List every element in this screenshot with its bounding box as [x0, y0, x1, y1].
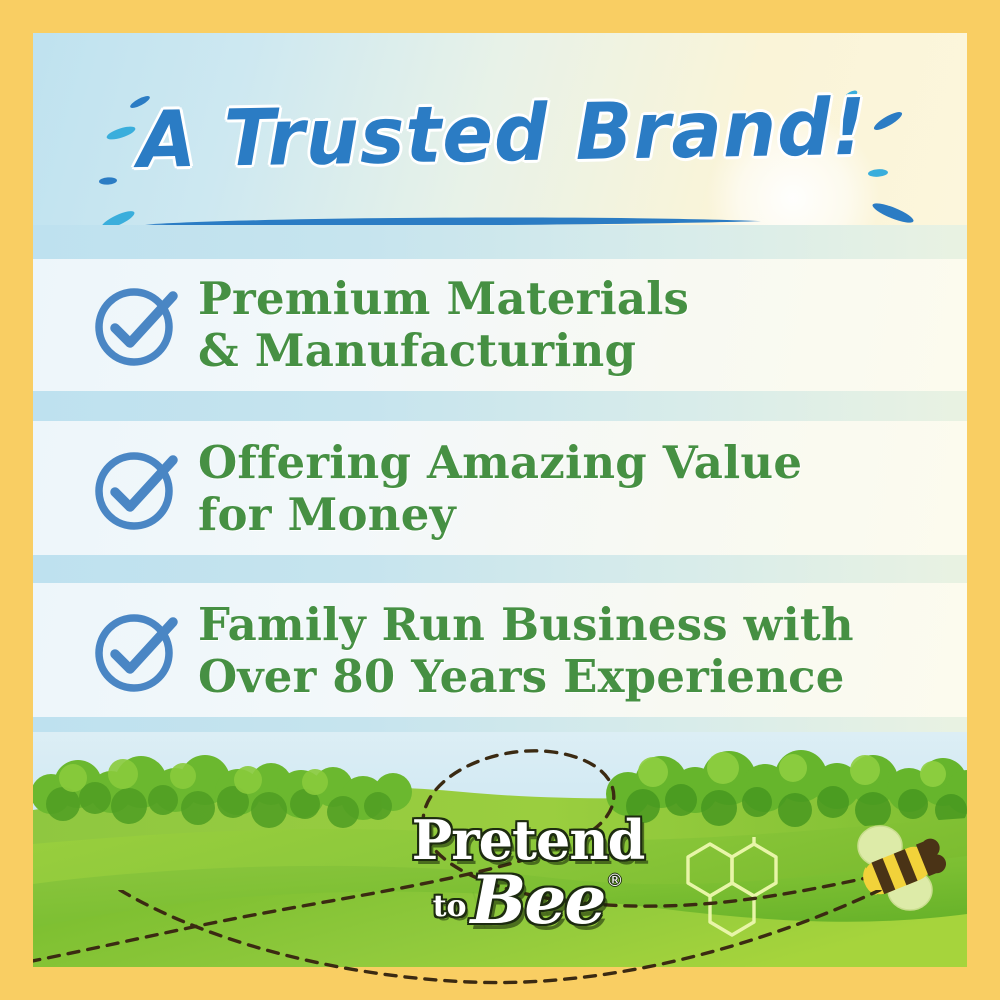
bee-flight-path-border — [0, 890, 1000, 1000]
check-circle-icon-1 — [88, 277, 184, 373]
feature-line-1b: & Manufacturing — [198, 325, 689, 377]
divider-band-3 — [33, 555, 967, 583]
feature-line-2b: for Money — [198, 489, 802, 541]
feature-line-2a: Offering Amazing Value — [198, 437, 802, 489]
divider-band-2 — [33, 391, 967, 421]
feature-item-1: Premium Materials & Manufacturing — [33, 265, 967, 385]
page-title: A Trusted Brand! — [137, 83, 867, 186]
check-circle-icon-3 — [88, 603, 184, 699]
poster-card: A Trusted Brand! Premium Materials & Man… — [33, 33, 967, 967]
feature-line-3a: Family Run Business with — [198, 599, 854, 651]
feature-text-1: Premium Materials & Manufacturing — [198, 273, 689, 377]
feature-line-3b: Over 80 Years Experience — [198, 651, 854, 703]
feature-text-3: Family Run Business with Over 80 Years E… — [198, 599, 854, 703]
check-circle-icon-2 — [88, 441, 184, 537]
feature-line-1a: Premium Materials — [198, 273, 689, 325]
divider-band-1 — [33, 225, 967, 259]
feature-text-2: Offering Amazing Value for Money — [198, 437, 802, 541]
feature-item-3: Family Run Business with Over 80 Years E… — [33, 591, 967, 711]
feature-item-2: Offering Amazing Value for Money — [33, 429, 967, 549]
headline-block: A Trusted Brand! — [33, 88, 967, 238]
poster-root: A Trusted Brand! Premium Materials & Man… — [0, 0, 1000, 1000]
